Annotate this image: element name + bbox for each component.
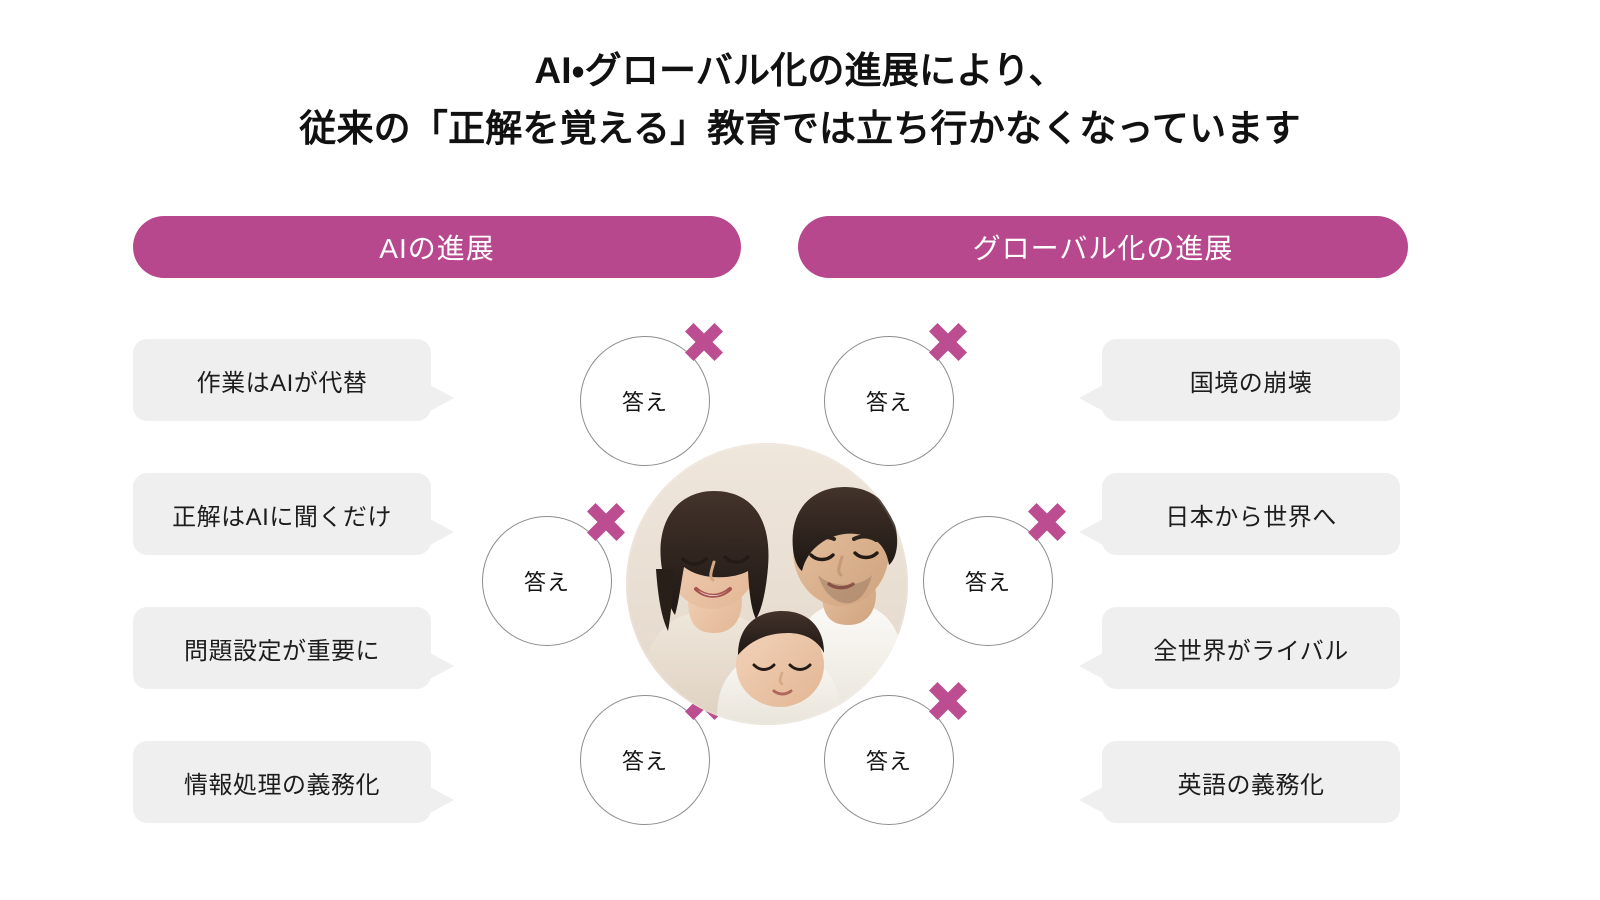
bubble-tail-icon	[1079, 519, 1103, 545]
answer-circle-middle-right-label: 答え	[965, 565, 1011, 597]
left-bubble-2[interactable]: 正解はAIに聞くだけ	[133, 473, 431, 555]
right-bubble-4[interactable]: 英語の義務化	[1102, 741, 1400, 823]
left-bubble-4[interactable]: 情報処理の義務化	[133, 741, 431, 823]
left-bubble-1-label: 作業はAIが代替	[197, 363, 368, 398]
x-mark-icon	[924, 677, 972, 725]
right-bubble-2-label: 日本から世界へ	[1165, 497, 1337, 532]
x-mark-icon	[680, 318, 728, 366]
left-bubble-3-label: 問題設定が重要に	[184, 631, 380, 666]
bubble-tail-icon	[430, 385, 454, 411]
category-pill-ai-label: AIの進展	[379, 227, 494, 267]
right-bubble-4-label: 英語の義務化	[1178, 765, 1325, 800]
x-mark-icon	[582, 498, 630, 546]
bubble-tail-icon	[430, 519, 454, 545]
right-bubble-1-label: 国境の崩壊	[1190, 363, 1313, 398]
left-bubble-2-label: 正解はAIに聞くだけ	[172, 497, 392, 532]
page-title-line-1: AI・グローバル化の進展により、	[0, 42, 1600, 100]
bubble-tail-icon	[1079, 653, 1103, 679]
answer-circle-top-right-label: 答え	[866, 385, 912, 417]
category-pill-globalization[interactable]: グローバル化の進展	[798, 216, 1408, 278]
left-bubble-4-label: 情報処理の義務化	[184, 765, 380, 800]
answer-circle-bottom-left[interactable]: 答え	[580, 695, 710, 825]
answer-circle-top-right[interactable]: 答え	[824, 336, 954, 466]
category-pill-globalization-label: グローバル化の進展	[973, 227, 1234, 267]
slide-canvas: AI・グローバル化の進展により、 従来の「正解を覚える」教育では立ち行かなくなっ…	[0, 0, 1600, 900]
bubble-tail-icon	[430, 787, 454, 813]
right-bubble-2[interactable]: 日本から世界へ	[1102, 473, 1400, 555]
answer-circle-middle-left[interactable]: 答え	[482, 516, 612, 646]
answer-circle-top-left[interactable]: 答え	[580, 336, 710, 466]
page-title-line-2: 従来の「正解を覚える」教育では立ち行かなくなっています	[0, 100, 1600, 158]
right-bubble-3[interactable]: 全世界がライバル	[1102, 607, 1400, 689]
bubble-tail-icon	[1079, 385, 1103, 411]
x-mark-icon	[924, 318, 972, 366]
page-title: AI・グローバル化の進展により、 従来の「正解を覚える」教育では立ち行かなくなっ…	[0, 42, 1600, 159]
x-mark-icon	[1023, 498, 1071, 546]
right-bubble-3-label: 全世界がライバル	[1153, 631, 1349, 666]
bubble-tail-icon	[430, 653, 454, 679]
bubble-tail-icon	[1079, 787, 1103, 813]
family-photo	[626, 443, 908, 725]
left-bubble-1[interactable]: 作業はAIが代替	[133, 339, 431, 421]
answer-circle-top-left-label: 答え	[622, 385, 668, 417]
answer-circle-bottom-right[interactable]: 答え	[824, 695, 954, 825]
right-bubble-1[interactable]: 国境の崩壊	[1102, 339, 1400, 421]
category-pill-ai[interactable]: AIの進展	[133, 216, 741, 278]
answer-circle-middle-right[interactable]: 答え	[923, 516, 1053, 646]
answer-circle-bottom-left-label: 答え	[622, 744, 668, 776]
answer-circle-bottom-right-label: 答え	[866, 744, 912, 776]
left-bubble-3[interactable]: 問題設定が重要に	[133, 607, 431, 689]
answer-circle-middle-left-label: 答え	[524, 565, 570, 597]
